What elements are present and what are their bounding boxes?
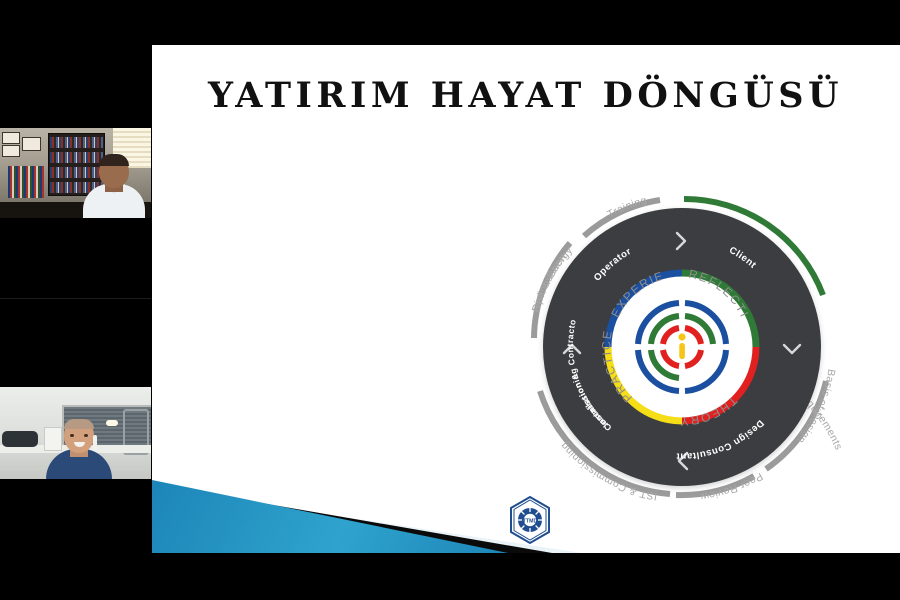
participant-tile-1[interactable] <box>0 45 151 298</box>
person-figure-1 <box>83 156 145 218</box>
page-title: YATIRIM HAYAT DÖNGÜSÜ <box>208 75 848 116</box>
wall-frames <box>2 132 44 158</box>
investment-lifecycle-diagram: Owner's Project Requirements Basis of De… <box>482 177 882 517</box>
person-pin-icon <box>678 333 685 359</box>
screen-share-window: YATIRIM HAYAT DÖNGÜSÜ <box>0 0 900 600</box>
participant-tile-2[interactable] <box>0 298 151 552</box>
participant-filmstrip <box>0 45 151 555</box>
participant-video-1 <box>0 128 151 218</box>
organisation-logo: TTMD <box>505 495 555 545</box>
shared-slide: YATIRIM HAYAT DÖNGÜSÜ <box>152 45 900 553</box>
participant-video-2 <box>0 387 151 479</box>
bookshelf-low <box>8 166 44 198</box>
person-figure-2 <box>46 415 112 479</box>
bag-object <box>2 431 38 447</box>
logo-text: TTMD <box>523 518 538 524</box>
